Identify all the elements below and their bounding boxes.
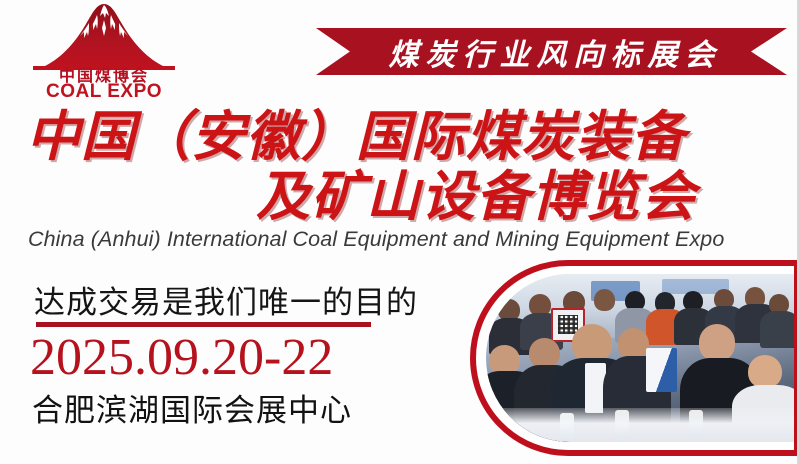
photo-bottle <box>560 413 574 440</box>
photo-table <box>486 408 794 442</box>
english-subtitle: China (Anhui) International Coal Equipme… <box>28 227 724 252</box>
photo-person <box>760 311 794 348</box>
photo-person <box>618 328 649 360</box>
logo-english-name: COAL EXPO <box>33 81 175 103</box>
slogan-text: 达成交易是我们唯一的目的 <box>34 277 418 322</box>
photo-person <box>748 355 782 389</box>
conference-audience-photo <box>486 274 794 442</box>
photo-person <box>489 345 520 375</box>
photo-frame <box>470 260 799 456</box>
event-date: 2025.09.20-22 <box>30 328 333 387</box>
photo-bottle <box>615 410 629 439</box>
red-divider <box>36 322 371 327</box>
page-title-line1: 中国（安徽）国际煤炭装备 <box>26 110 686 164</box>
photo-person <box>529 338 560 368</box>
ribbon-label: 煤炭行业风向标展会 <box>316 28 787 75</box>
tagline-ribbon: 煤炭行业风向标展会 <box>316 28 787 75</box>
photo-flag <box>646 348 677 392</box>
mountain-icon <box>33 2 175 70</box>
logo-block[interactable]: 中国煤博会 COAL EXPO <box>33 2 175 102</box>
page-title-line2: 及矿山设备博览会 <box>256 170 696 224</box>
photo-person <box>699 324 736 361</box>
expo-poster: 中国煤博会 COAL EXPO 煤炭行业风向标展会 中国（安徽）国际煤炭装备 及… <box>0 0 799 464</box>
photo-bottle <box>689 410 703 437</box>
event-venue: 合肥滨湖国际会展中心 <box>32 385 352 430</box>
